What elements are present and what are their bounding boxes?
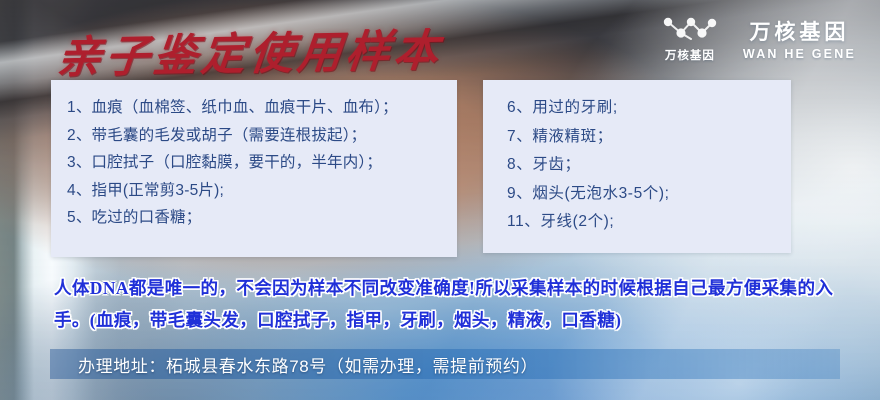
list-item: 3、口腔拭子（口腔黏膜，要干的，半年内）；	[67, 149, 441, 177]
list-item: 5、吃过的口香糖；	[67, 204, 441, 232]
list-item: 9、烟头(无泡水3-5个);	[507, 180, 775, 209]
page-title: 亲子鉴定使用样本	[54, 14, 445, 85]
sample-list-panel-left: 1、血痕（血棉签、纸巾血、血痕干片、血布）； 2、带毛囊的毛发或胡子（需要连根拔…	[51, 80, 457, 257]
logo-mark: 万核基因	[661, 14, 719, 63]
molecule-icon	[661, 14, 719, 44]
list-item: 4、指甲(正常剪3-5片);	[67, 177, 441, 205]
list-item: 2、带毛囊的毛发或胡子（需要连根拔起）；	[67, 122, 441, 150]
sample-list-left: 1、血痕（血棉签、纸巾血、血痕干片、血布）； 2、带毛囊的毛发或胡子（需要连根拔…	[67, 94, 441, 232]
sample-list-right: 6、用过的牙刷; 7、精液精斑； 8、牙齿； 9、烟头(无泡水3-5个); 11…	[507, 94, 775, 237]
brand-logo: 万核基因 万核基因 WAN HE GENE	[661, 14, 856, 63]
panel-divider-gap	[457, 80, 483, 257]
address-text: 办理地址：柘城县春水东路78号（如需办理，需提前预约）	[78, 352, 538, 377]
list-item: 8、牙齿；	[507, 151, 775, 180]
logo-mark-label: 万核基因	[665, 47, 715, 63]
list-item: 6、用过的牙刷;	[507, 94, 775, 123]
brand-name-en: WAN HE GENE	[743, 47, 856, 61]
brand-name-cn: 万核基因	[749, 16, 849, 46]
list-item: 7、精液精斑；	[507, 123, 775, 152]
address-banner: 办理地址：柘城县春水东路78号（如需办理，需提前预约）	[50, 349, 840, 379]
list-item: 11、牙线(2个);	[507, 208, 775, 237]
logo-wordmark: 万核基因 WAN HE GENE	[743, 16, 856, 61]
list-item: 1、血痕（血棉签、纸巾血、血痕干片、血布）；	[67, 94, 441, 122]
sample-list-panel-right: 6、用过的牙刷; 7、精液精斑； 8、牙齿； 9、烟头(无泡水3-5个); 11…	[483, 80, 791, 253]
note-paragraph: 人体DNA都是唯一的，不会因为样本不同改变准确度!所以采集样本的时候根据自己最方…	[54, 272, 844, 336]
sample-lists: 1、血痕（血棉签、纸巾血、血痕干片、血布）； 2、带毛囊的毛发或胡子（需要连根拔…	[51, 80, 791, 257]
promo-poster: 万核基因 万核基因 WAN HE GENE 亲子鉴定使用样本 1、血痕（血棉签、…	[0, 0, 880, 400]
